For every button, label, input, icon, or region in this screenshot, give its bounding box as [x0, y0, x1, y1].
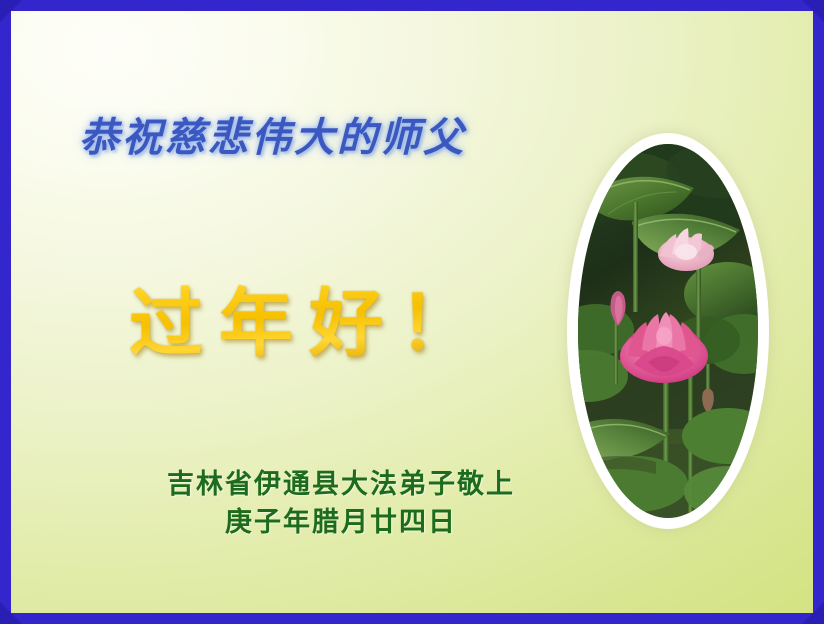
signature-line-2: 庚子年腊月廿四日 — [111, 504, 571, 542]
greeting-card: 恭祝慈悲伟大的师父 过年好！ 吉林省伊通县大法弟子敬上 庚子年腊月廿四日 — [0, 0, 824, 624]
signature-block: 吉林省伊通县大法弟子敬上 庚子年腊月廿四日 — [111, 466, 571, 543]
greeting-text: 过年好！ — [129, 264, 489, 371]
signature-line-1: 吉林省伊通县大法弟子敬上 — [111, 466, 571, 504]
headline-text: 恭祝慈悲伟大的师父 — [79, 105, 466, 163]
photo-oval-frame — [567, 133, 769, 529]
lotus-pond-photo — [578, 144, 758, 518]
